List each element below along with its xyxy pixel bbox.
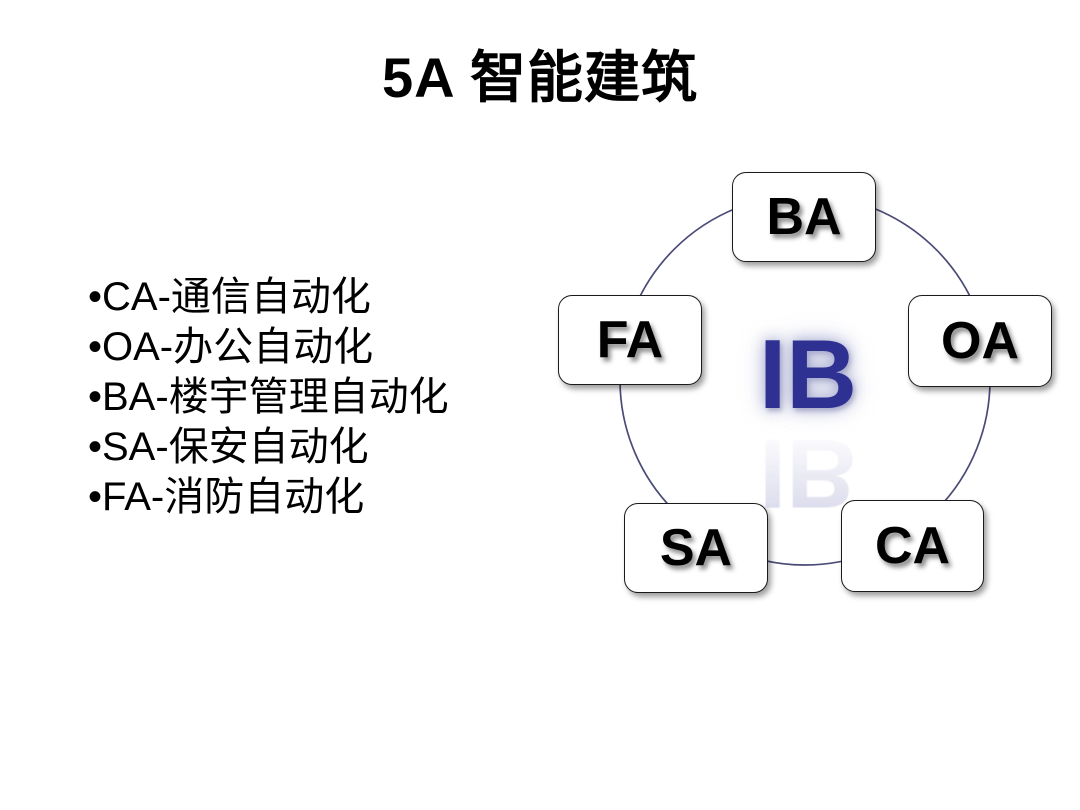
bullet-list: •CA-通信自动化 •OA-办公自动化 •BA-楼宇管理自动化 •SA-保安自动… [88,272,538,522]
cycle-diagram: BA OA CA SA FA IB IB [540,150,1080,620]
list-item-code: •FA- [88,475,164,519]
list-item-label: 消防自动化 [164,474,364,519]
page-title: 5A 智能建筑 [0,46,1080,110]
node-ba-label: BA [766,191,841,243]
list-item-label: 楼宇管理自动化 [169,374,449,419]
node-sa-label: SA [660,522,732,574]
list-item-code: •SA- [88,425,169,469]
list-item: •BA-楼宇管理自动化 [88,372,538,422]
node-oa[interactable]: OA [908,295,1052,387]
list-item-code: •CA- [88,275,171,319]
list-item: •CA-通信自动化 [88,272,538,322]
center-label-reflection: IB [728,425,888,523]
center-label-group: IB IB [728,325,888,495]
list-item: •SA-保安自动化 [88,422,538,472]
node-fa-label: FA [597,314,663,366]
list-item-label: 办公自动化 [173,324,373,369]
node-oa-label: OA [941,315,1019,367]
list-item-code: •OA- [88,325,173,369]
node-ba[interactable]: BA [732,172,876,262]
node-ca-label: CA [875,520,950,572]
list-item: •OA-办公自动化 [88,322,538,372]
center-label-ib: IB [728,325,888,423]
list-item-label: 保安自动化 [169,424,369,469]
list-item-label: 通信自动化 [171,274,371,319]
list-item: •FA-消防自动化 [88,472,538,522]
node-fa[interactable]: FA [558,295,702,385]
list-item-code: •BA- [88,375,169,419]
